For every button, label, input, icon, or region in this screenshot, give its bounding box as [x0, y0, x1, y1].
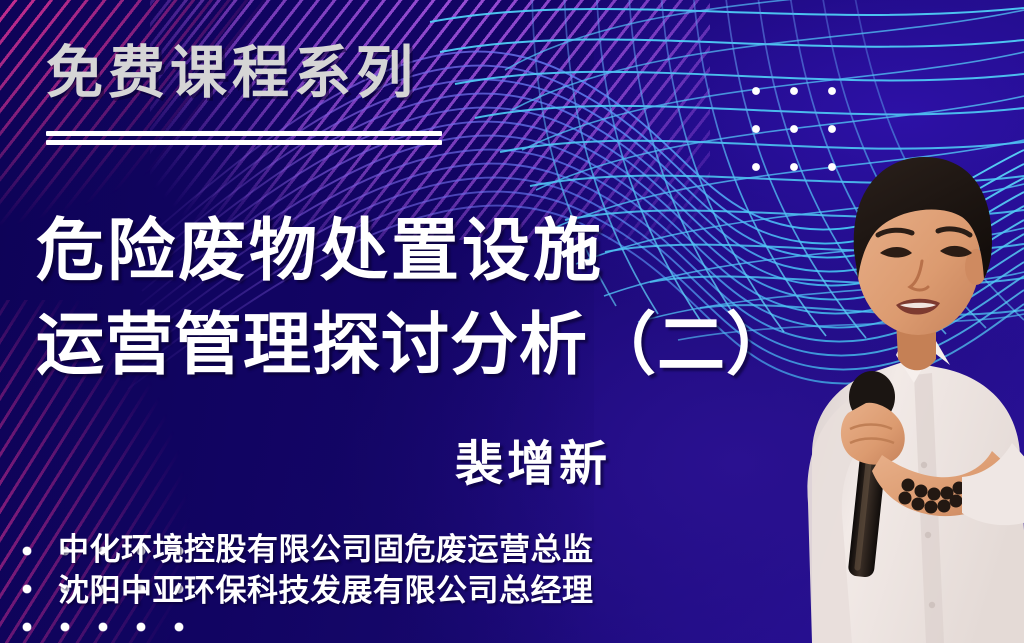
- affiliation-line-2: 沈阳中亚环保科技发展有限公司总经理: [58, 570, 678, 611]
- course-poster: 免费课程系列 危险废物处置设施 运营管理探讨分析（二） 裴增新 中化环境控股有限…: [0, 0, 1024, 643]
- divider-rules: [46, 131, 442, 145]
- course-title: 危险废物处置设施 运营管理探讨分析（二）: [36, 205, 776, 393]
- title-line-1: 危险废物处置设施: [36, 205, 776, 299]
- speaker-affiliations: 中化环境控股有限公司固危废运营总监 沈阳中亚环保科技发展有限公司总经理: [58, 529, 678, 611]
- title-line-2: 运营管理探讨分析（二）: [36, 299, 776, 393]
- divider-rule-bottom: [46, 140, 442, 145]
- speaker-name: 裴增新: [455, 424, 611, 494]
- divider-rule-top: [46, 131, 442, 136]
- series-kicker: 免费课程系列: [46, 45, 418, 102]
- affiliation-line-1: 中化环境控股有限公司固危废运营总监: [58, 529, 678, 570]
